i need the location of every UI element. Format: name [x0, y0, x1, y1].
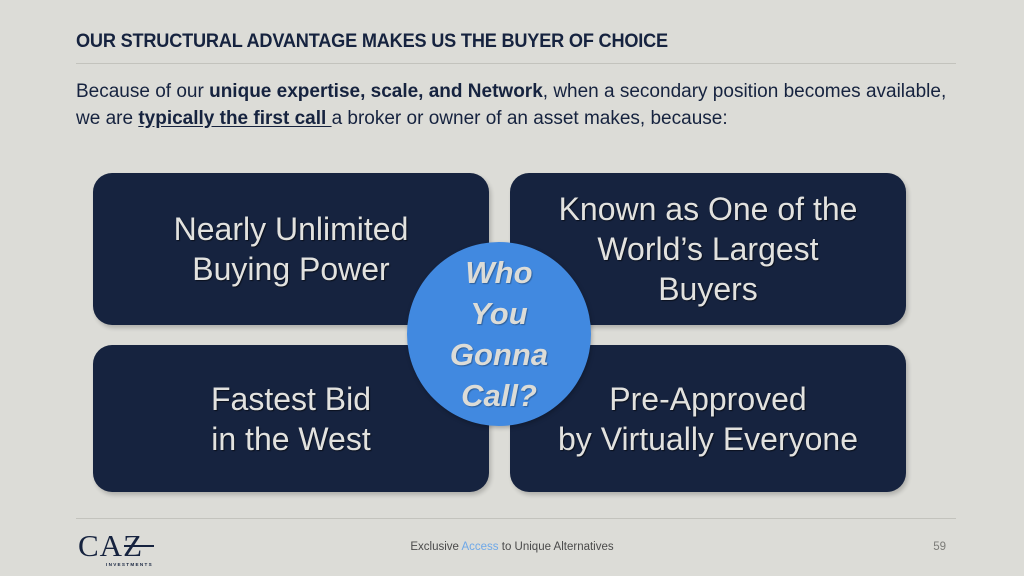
footer-tagline: Exclusive Access to Unique Alternatives [0, 541, 1024, 553]
benefit-card-label: Known as One of the World’s Largest Buye… [559, 189, 858, 309]
benefit-card-label: Pre-Approved by Virtually Everyone [558, 379, 858, 459]
body-paragraph: Because of our unique expertise, scale, … [76, 79, 956, 132]
page-number: 59 [933, 541, 946, 553]
center-circle-label: Who You Gonna Call? [450, 252, 548, 416]
slide-canvas: OUR STRUCTURAL ADVANTAGE MAKES US THE BU… [0, 0, 1024, 576]
header-divider [76, 63, 956, 64]
footer-tagline-post: to Unique Alternatives [499, 541, 614, 553]
body-bold-emphasis: unique expertise, scale, and Network [209, 81, 543, 102]
body-part-1: Because of our [76, 81, 209, 102]
footer-divider [76, 518, 956, 519]
footer-tagline-pre: Exclusive [410, 541, 461, 553]
benefit-card-label: Fastest Bid in the West [211, 379, 371, 459]
page-title: OUR STRUCTURAL ADVANTAGE MAKES US THE BU… [76, 30, 894, 53]
footer-tagline-accent: Access [461, 541, 498, 553]
center-circle-callout[interactable]: Who You Gonna Call? [407, 242, 591, 426]
body-part-3: a broker or owner of an asset makes, bec… [332, 108, 728, 129]
caz-logo-subtitle: INVESTMENTS [106, 563, 188, 568]
body-underlined-emphasis: typically the first call [138, 108, 331, 129]
benefit-card-label: Nearly Unlimited Buying Power [174, 209, 409, 289]
